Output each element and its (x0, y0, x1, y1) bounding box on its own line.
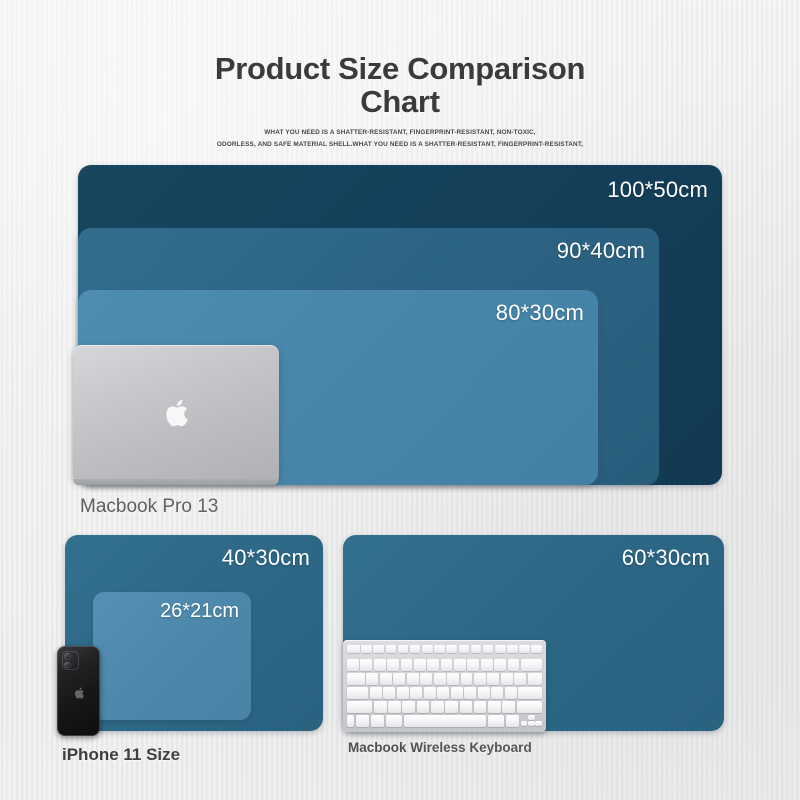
apple-logo-icon (73, 686, 84, 699)
macbook-wireless-keyboard-image (343, 640, 546, 732)
keyboard-row-qwerty (347, 673, 542, 685)
keyboard-row-function (347, 645, 542, 657)
macbook-pro-13-image (73, 345, 279, 481)
apple-logo-icon (163, 398, 189, 429)
page-title: Product Size Comparison Chart (185, 52, 615, 118)
mat-label-100x50: 100*50cm (607, 177, 708, 203)
keyboard-row-numbers (347, 659, 542, 671)
caption-macbook-wireless-keyboard: Macbook Wireless Keyboard (348, 740, 532, 755)
camera-lens-top-icon (64, 653, 71, 660)
keyboard-row-home (347, 687, 542, 699)
camera-lens-bottom-icon (64, 662, 71, 669)
page-header: Product Size Comparison Chart WHAT YOU N… (0, 52, 800, 151)
mat-label-80x30: 80*30cm (496, 300, 584, 326)
keyboard-row-space (347, 715, 542, 727)
page-subtitle: WHAT YOU NEED IS A SHATTER-RESISTANT, FI… (0, 127, 800, 151)
mat-label-40x30: 40*30cm (222, 545, 310, 571)
subtitle-line-2: ODORLESS, AND SAFE MATERIAL SHELL.WHAT Y… (0, 139, 800, 151)
iphone-11-image (57, 646, 100, 736)
mat-label-26x21: 26*21cm (160, 600, 239, 623)
product-size-comparison-page: Product Size Comparison Chart WHAT YOU N… (0, 0, 800, 800)
caption-macbook-pro-13: Macbook Pro 13 (80, 496, 218, 518)
arrow-keys-cluster (521, 715, 542, 727)
caption-iphone-11-size: iPhone 11 Size (62, 745, 180, 765)
mat-label-90x40: 90*40cm (557, 238, 645, 264)
keyboard-row-shift (347, 701, 542, 713)
camera-module-icon (62, 651, 79, 670)
mat-label-60x30: 60*30cm (622, 545, 710, 571)
subtitle-line-1: WHAT YOU NEED IS A SHATTER-RESISTANT, FI… (0, 127, 800, 139)
mat-26x21[interactable]: 26*21cm (93, 592, 251, 720)
